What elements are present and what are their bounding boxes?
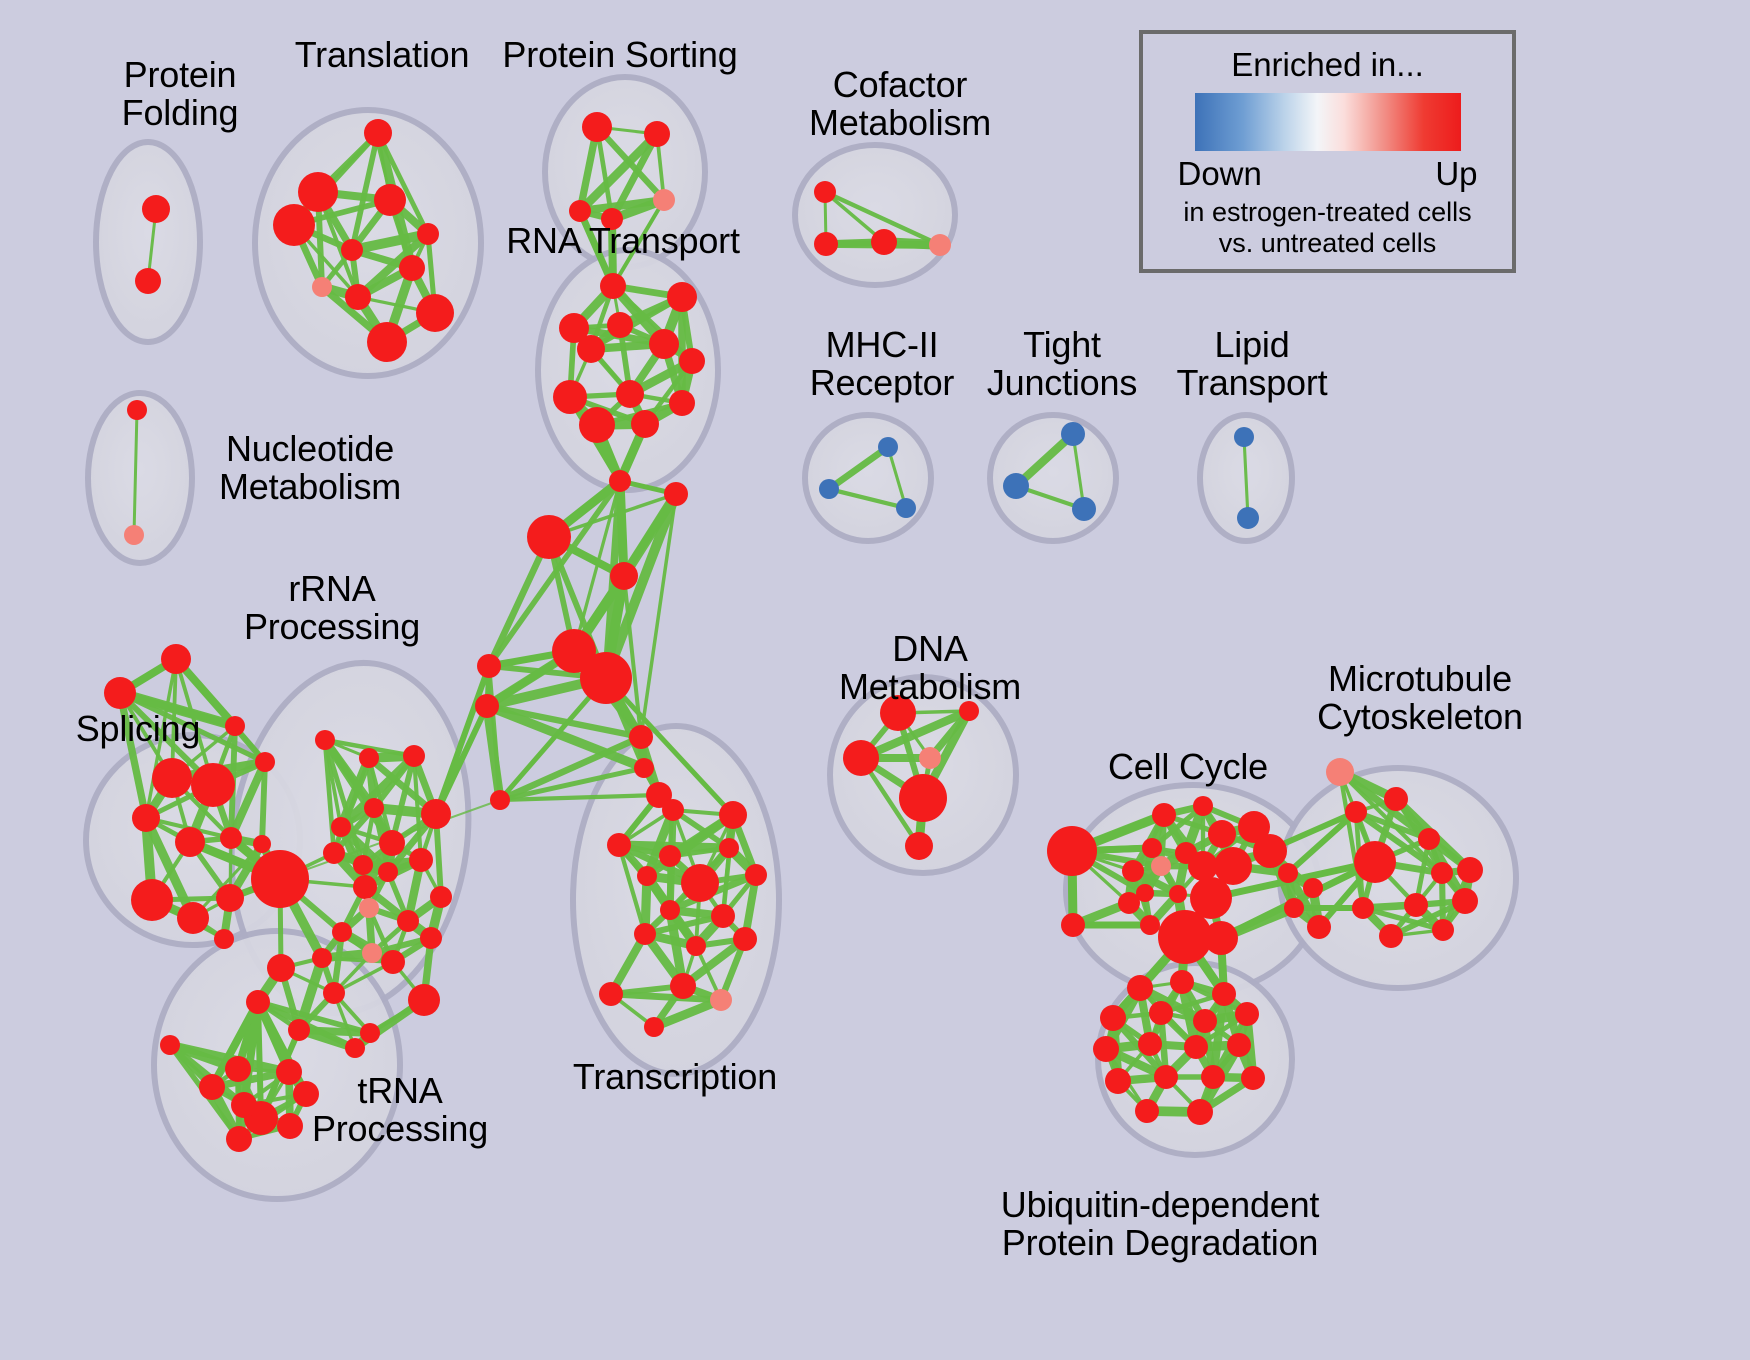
- network-node[interactable]: [199, 1074, 225, 1100]
- network-node[interactable]: [659, 845, 681, 867]
- network-node[interactable]: [634, 923, 656, 945]
- cluster-label-rrna-processing: rRNA Processing: [232, 570, 432, 646]
- network-node[interactable]: [1307, 915, 1331, 939]
- network-node[interactable]: [819, 479, 839, 499]
- legend-caption-line1: in estrogen-treated cells: [1183, 197, 1471, 228]
- network-node[interactable]: [360, 1023, 380, 1043]
- cluster-label-ubiquitin-degradation: Ubiquitin-dependent Protein Degradation: [980, 1186, 1340, 1262]
- network-node[interactable]: [1187, 1099, 1213, 1125]
- network-node[interactable]: [152, 758, 192, 798]
- legend-caption: in estrogen-treated cells vs. untreated …: [1183, 197, 1471, 259]
- network-node[interactable]: [267, 954, 295, 982]
- network-node[interactable]: [1418, 828, 1440, 850]
- network-node[interactable]: [345, 284, 371, 310]
- network-node[interactable]: [580, 652, 632, 704]
- network-node[interactable]: [273, 204, 315, 246]
- network-node[interactable]: [679, 348, 705, 374]
- network-node[interactable]: [345, 1038, 365, 1058]
- network-node[interactable]: [577, 335, 605, 363]
- legend-caption-line2: vs. untreated cells: [1183, 228, 1471, 259]
- network-node[interactable]: [905, 832, 933, 860]
- network-node[interactable]: [1212, 982, 1236, 1006]
- network-node[interactable]: [1237, 507, 1259, 529]
- network-node[interactable]: [607, 312, 633, 338]
- network-node[interactable]: [381, 950, 405, 974]
- network-node[interactable]: [1354, 841, 1396, 883]
- network-node[interactable]: [1142, 838, 1162, 858]
- network-node[interactable]: [579, 407, 615, 443]
- cluster-label-dna-metabolism: DNA Metabolism: [800, 630, 1060, 706]
- network-node[interactable]: [1170, 970, 1194, 994]
- network-node[interactable]: [644, 121, 670, 147]
- network-node[interactable]: [670, 973, 696, 999]
- network-node[interactable]: [610, 562, 638, 590]
- network-node[interactable]: [142, 195, 170, 223]
- network-node[interactable]: [1100, 1005, 1126, 1031]
- network-node[interactable]: [1118, 892, 1140, 914]
- network-node[interactable]: [878, 437, 898, 457]
- network-node[interactable]: [569, 200, 591, 222]
- network-node[interactable]: [1201, 1065, 1225, 1089]
- network-node[interactable]: [929, 234, 951, 256]
- network-node[interactable]: [1379, 924, 1403, 948]
- network-node[interactable]: [711, 904, 735, 928]
- network-node[interactable]: [124, 525, 144, 545]
- network-node[interactable]: [177, 902, 209, 934]
- network-node[interactable]: [1140, 915, 1160, 935]
- network-node[interactable]: [161, 644, 191, 674]
- network-node[interactable]: [1326, 758, 1354, 786]
- edge: [262, 762, 265, 844]
- network-node[interactable]: [1193, 796, 1213, 816]
- network-node[interactable]: [1457, 857, 1483, 883]
- network-node[interactable]: [631, 410, 659, 438]
- hull-mhc: [805, 415, 931, 541]
- network-node[interactable]: [379, 830, 405, 856]
- network-node[interactable]: [1234, 427, 1254, 447]
- network-node[interactable]: [814, 232, 838, 256]
- network-node[interactable]: [374, 184, 406, 216]
- cluster-label-microtubule-cytoskeleton: Microtubule Cytoskeleton: [1290, 660, 1550, 736]
- cluster-label-rna-transport: RNA Transport: [503, 222, 743, 260]
- network-node[interactable]: [745, 864, 767, 886]
- network-node[interactable]: [288, 1019, 310, 1041]
- legend-title: Enriched in...: [1231, 46, 1424, 84]
- network-node[interactable]: [477, 654, 501, 678]
- network-node[interactable]: [1452, 888, 1478, 914]
- hull-protein-folding: [96, 142, 200, 342]
- network-node[interactable]: [475, 694, 499, 718]
- network-node[interactable]: [175, 827, 205, 857]
- network-node[interactable]: [1303, 878, 1323, 898]
- network-node[interactable]: [649, 329, 679, 359]
- network-node[interactable]: [420, 927, 442, 949]
- network-node[interactable]: [430, 886, 452, 908]
- network-node[interactable]: [1169, 885, 1187, 903]
- network-node[interactable]: [660, 900, 680, 920]
- legend-box: Enriched in... Down Up in estrogen-treat…: [1139, 30, 1516, 273]
- network-node[interactable]: [1431, 862, 1453, 884]
- network-node[interactable]: [1105, 1068, 1131, 1094]
- network-node[interactable]: [814, 181, 836, 203]
- network-node[interactable]: [246, 990, 270, 1014]
- cluster-label-splicing: Splicing: [53, 710, 223, 748]
- network-node[interactable]: [616, 380, 644, 408]
- cluster-label-cell-cycle: Cell Cycle: [1088, 748, 1288, 786]
- network-node[interactable]: [1152, 803, 1176, 827]
- network-node[interactable]: [399, 255, 425, 281]
- network-node[interactable]: [359, 898, 379, 918]
- network-node[interactable]: [733, 927, 757, 951]
- network-node[interactable]: [1154, 1065, 1178, 1089]
- network-node[interactable]: [662, 799, 684, 821]
- network-node[interactable]: [312, 277, 332, 297]
- network-node[interactable]: [686, 936, 706, 956]
- network-diagram-canvas: Protein FoldingTranslationProtein Sortin…: [0, 0, 1750, 1360]
- network-node[interactable]: [871, 229, 897, 255]
- network-node[interactable]: [409, 848, 433, 872]
- legend-endpoints: Down Up: [1178, 155, 1478, 193]
- network-node[interactable]: [353, 875, 377, 899]
- cluster-label-protein-sorting: Protein Sorting: [500, 36, 740, 74]
- network-node[interactable]: [1384, 787, 1408, 811]
- network-node[interactable]: [644, 1017, 664, 1037]
- network-node[interactable]: [397, 910, 419, 932]
- network-node[interactable]: [1184, 1035, 1208, 1059]
- network-node[interactable]: [408, 984, 440, 1016]
- cluster-label-transcription: Transcription: [560, 1058, 790, 1096]
- network-node[interactable]: [681, 864, 719, 902]
- network-node[interactable]: [637, 866, 657, 886]
- network-node[interactable]: [1208, 820, 1236, 848]
- network-node[interactable]: [323, 842, 345, 864]
- network-node[interactable]: [353, 855, 373, 875]
- network-node[interactable]: [1072, 497, 1096, 521]
- network-node[interactable]: [1432, 919, 1454, 941]
- network-node[interactable]: [421, 799, 451, 829]
- network-node[interactable]: [225, 716, 245, 736]
- network-node[interactable]: [609, 470, 631, 492]
- network-node[interactable]: [1135, 1099, 1159, 1123]
- network-node[interactable]: [135, 268, 161, 294]
- cluster-label-tight-junctions: Tight Junctions: [972, 326, 1152, 402]
- network-node[interactable]: [378, 862, 398, 882]
- network-node[interactable]: [231, 1092, 257, 1118]
- network-node[interactable]: [1241, 1066, 1265, 1090]
- network-node[interactable]: [367, 322, 407, 362]
- cluster-label-trna-processing: tRNA Processing: [290, 1072, 510, 1148]
- network-node[interactable]: [1047, 826, 1097, 876]
- network-node[interactable]: [226, 1126, 252, 1152]
- network-node[interactable]: [1127, 975, 1153, 1001]
- network-node[interactable]: [600, 273, 626, 299]
- network-node[interactable]: [899, 774, 947, 822]
- network-node[interactable]: [315, 730, 335, 750]
- network-node[interactable]: [1093, 1036, 1119, 1062]
- network-node[interactable]: [1253, 834, 1287, 868]
- network-node[interactable]: [653, 189, 675, 211]
- network-node[interactable]: [607, 833, 631, 857]
- network-node[interactable]: [362, 943, 382, 963]
- network-node[interactable]: [719, 838, 739, 858]
- network-node[interactable]: [131, 879, 173, 921]
- cluster-label-mhc-ii-receptor: MHC-II Receptor: [792, 326, 972, 402]
- network-node[interactable]: [1158, 910, 1212, 964]
- network-node[interactable]: [527, 515, 571, 559]
- network-node[interactable]: [332, 922, 352, 942]
- legend-colorbar: [1195, 93, 1461, 151]
- network-node[interactable]: [1003, 473, 1029, 499]
- legend-high-label: Up: [1435, 155, 1477, 193]
- network-node[interactable]: [664, 482, 688, 506]
- network-node[interactable]: [255, 752, 275, 772]
- network-node[interactable]: [364, 798, 384, 818]
- network-node[interactable]: [1188, 851, 1218, 881]
- network-node[interactable]: [667, 282, 697, 312]
- network-node[interactable]: [1061, 422, 1085, 446]
- network-node[interactable]: [1151, 856, 1171, 876]
- network-node[interactable]: [919, 747, 941, 769]
- network-node[interactable]: [312, 948, 332, 968]
- network-node[interactable]: [1227, 1033, 1251, 1057]
- network-node[interactable]: [417, 223, 439, 245]
- network-node[interactable]: [253, 835, 271, 853]
- network-node[interactable]: [341, 239, 363, 261]
- network-node[interactable]: [191, 763, 235, 807]
- cluster-label-cofactor-metabolism: Cofactor Metabolism: [790, 66, 1010, 142]
- edge: [620, 481, 624, 576]
- network-node[interactable]: [132, 804, 160, 832]
- network-node[interactable]: [359, 748, 379, 768]
- cluster-label-lipid-transport: Lipid Transport: [1162, 326, 1342, 402]
- network-node[interactable]: [1404, 893, 1428, 917]
- network-node[interactable]: [1345, 801, 1367, 823]
- network-node[interactable]: [1138, 1032, 1162, 1056]
- network-node[interactable]: [1352, 897, 1374, 919]
- network-node[interactable]: [127, 400, 147, 420]
- network-node[interactable]: [1235, 1002, 1259, 1026]
- network-node[interactable]: [1149, 1001, 1173, 1025]
- network-node[interactable]: [629, 725, 653, 749]
- network-node[interactable]: [669, 390, 695, 416]
- network-node[interactable]: [599, 982, 623, 1006]
- network-node[interactable]: [634, 758, 654, 778]
- network-node[interactable]: [553, 380, 587, 414]
- network-node[interactable]: [323, 982, 345, 1004]
- edge: [487, 706, 500, 800]
- cluster-label-protein-folding: Protein Folding: [80, 56, 280, 132]
- network-node[interactable]: [216, 884, 244, 912]
- network-node[interactable]: [298, 172, 338, 212]
- legend-low-label: Down: [1178, 155, 1262, 193]
- network-node[interactable]: [220, 827, 242, 849]
- network-node[interactable]: [225, 1056, 251, 1082]
- network-node[interactable]: [1193, 1009, 1217, 1033]
- network-node[interactable]: [843, 740, 879, 776]
- cluster-label-translation: Translation: [272, 36, 492, 74]
- network-node[interactable]: [896, 498, 916, 518]
- network-node[interactable]: [104, 677, 136, 709]
- network-node[interactable]: [364, 119, 392, 147]
- network-node[interactable]: [416, 294, 454, 332]
- cluster-label-nucleotide-metabolism: Nucleotide Metabolism: [195, 430, 425, 506]
- network-node[interactable]: [490, 790, 510, 810]
- network-node[interactable]: [719, 801, 747, 829]
- network-node[interactable]: [251, 850, 309, 908]
- network-node[interactable]: [582, 112, 612, 142]
- network-node[interactable]: [214, 929, 234, 949]
- network-node[interactable]: [710, 989, 732, 1011]
- network-node[interactable]: [1278, 863, 1298, 883]
- network-node[interactable]: [403, 745, 425, 767]
- network-node[interactable]: [1061, 913, 1085, 937]
- network-node[interactable]: [1284, 898, 1304, 918]
- network-node[interactable]: [1204, 921, 1238, 955]
- network-node[interactable]: [160, 1035, 180, 1055]
- network-node[interactable]: [331, 817, 351, 837]
- network-node[interactable]: [1122, 860, 1144, 882]
